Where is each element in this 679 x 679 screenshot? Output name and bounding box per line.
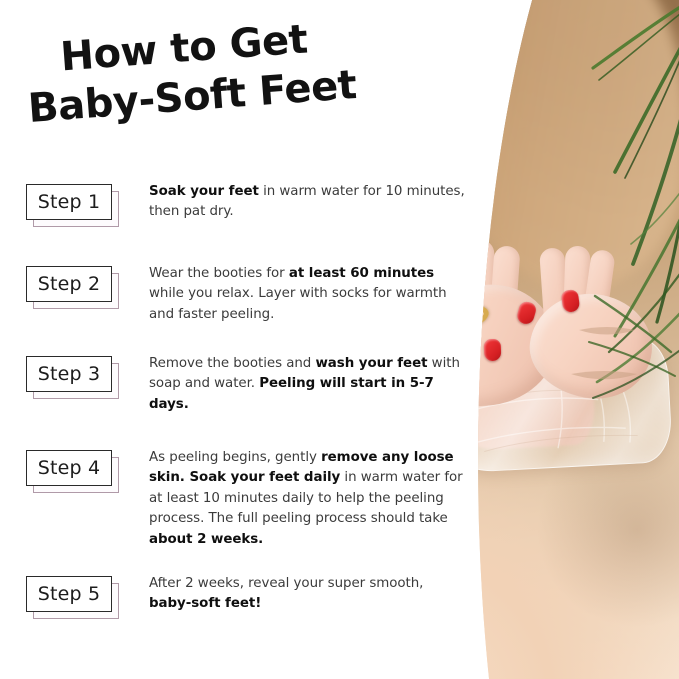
- red-fingernail: [484, 339, 502, 362]
- step-badge-label: Step 2: [26, 266, 112, 302]
- step-row: Step 5 After 2 weeks, reveal your super …: [26, 574, 466, 615]
- step-badge: Step 1: [26, 184, 112, 220]
- step-badge-label: Step 5: [26, 576, 112, 612]
- palm-leaves-icon: [535, 0, 679, 416]
- step-badge: Step 2: [26, 266, 112, 302]
- step-row: Step 2 Wear the booties for at least 60 …: [26, 264, 466, 325]
- step-description: Wear the booties for at least 60 minutes…: [149, 264, 466, 325]
- step-row: Step 1 Soak your feet in warm water for …: [26, 182, 466, 223]
- step-badge: Step 4: [26, 450, 112, 486]
- step-badge: Step 5: [26, 576, 112, 612]
- infographic-canvas: How to Get Baby-Soft Feet Step 1 Soak yo…: [0, 0, 679, 679]
- page-title: How to Get Baby-Soft Feet: [23, 12, 359, 134]
- tattoo-icon: [403, 0, 491, 84]
- step-badge-label: Step 4: [26, 450, 112, 486]
- step-description: After 2 weeks, reveal your super smooth,…: [149, 574, 466, 615]
- step-description: Remove the booties and wash your feet wi…: [149, 354, 466, 415]
- text-column: How to Get Baby-Soft Feet Step 1 Soak yo…: [0, 0, 395, 679]
- step-row: Step 4 As peeling begins, gently remove …: [26, 448, 466, 550]
- step-description: As peeling begins, gently remove any loo…: [149, 448, 466, 550]
- step-row: Step 3 Remove the booties and wash your …: [26, 354, 466, 415]
- step-badge-label: Step 1: [26, 184, 112, 220]
- step-description: Soak your feet in warm water for 10 minu…: [149, 182, 466, 223]
- step-badge: Step 3: [26, 356, 112, 392]
- step-badge-label: Step 3: [26, 356, 112, 392]
